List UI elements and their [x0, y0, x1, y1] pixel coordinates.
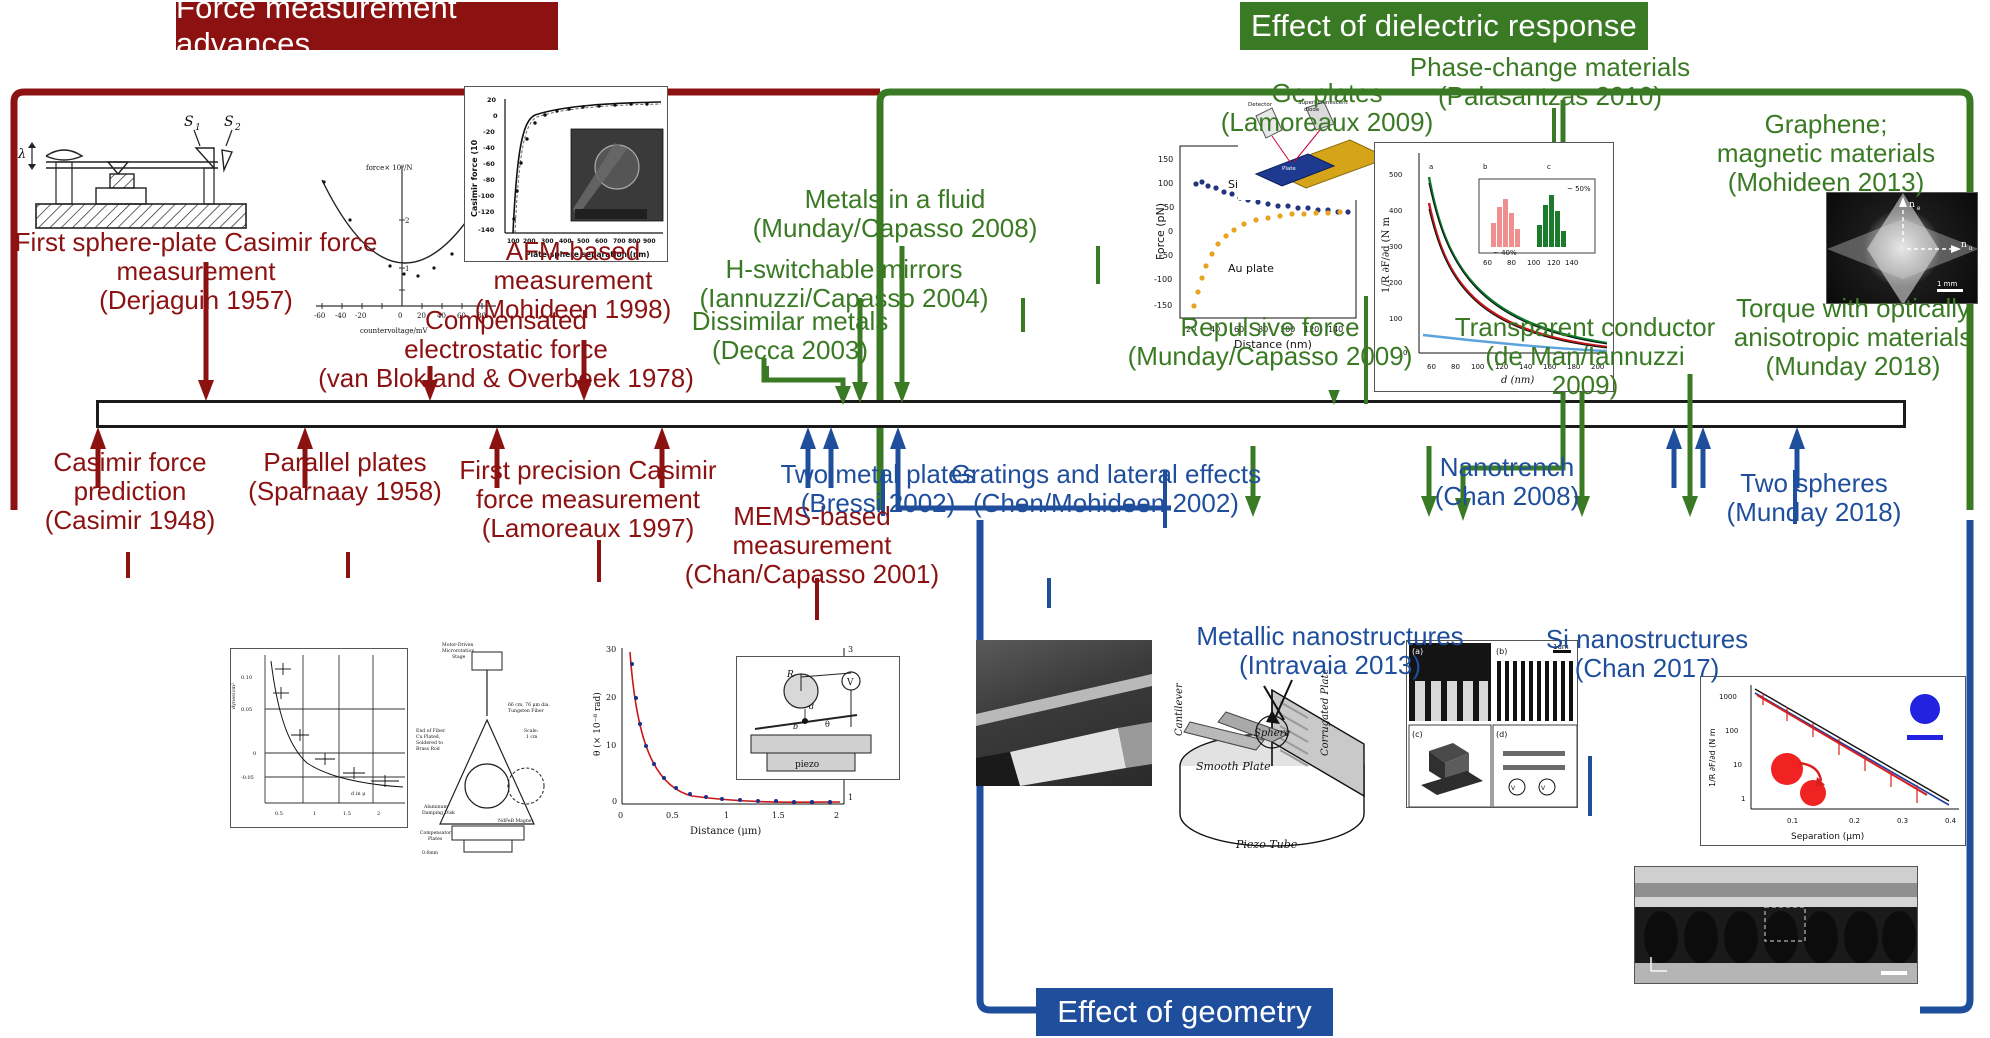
svg-text:Aluminum: Aluminum	[423, 804, 448, 810]
svg-text:0: 0	[618, 811, 623, 820]
svg-text:120: 120	[1547, 259, 1560, 267]
svg-text:66 cm, 76 μm dia.: 66 cm, 76 μm dia.	[508, 702, 550, 708]
caption-chan08: Nanotrench (Chan 2008)	[1404, 453, 1610, 511]
svg-text:1: 1	[405, 265, 409, 273]
svg-text:0.4: 0.4	[1945, 817, 1957, 825]
svg-text:-150: -150	[1154, 301, 1172, 310]
svg-text:0.3: 0.3	[1897, 817, 1908, 825]
figure-bressi02-sem	[976, 640, 1152, 786]
caption-munday18-spheres: Two spheres (Munday 2018)	[1692, 469, 1936, 527]
svg-text:a: a	[1429, 163, 1433, 171]
svg-text:500: 500	[1389, 171, 1402, 179]
svg-text:S: S	[184, 114, 194, 130]
caption-munday18-torque: Torque with optically anisotropic materi…	[1720, 294, 1986, 381]
caption-decca03: Dissimilar metals (Decca 2003)	[680, 307, 900, 365]
caption-deman09: Transparent conductor (de Man/Iannuzzi 2…	[1450, 313, 1720, 400]
svg-text:400: 400	[1389, 207, 1402, 215]
caption-munday09: Repulsive force (Munday/Capasso 2009)	[1114, 313, 1426, 371]
svg-text:3: 3	[848, 645, 853, 654]
svg-text:2: 2	[405, 217, 409, 225]
svg-text:Damping Disk: Damping Disk	[422, 810, 455, 816]
svg-text:0.5: 0.5	[275, 811, 283, 817]
svg-text:60: 60	[1427, 363, 1436, 371]
svg-text:Stage: Stage	[452, 654, 466, 660]
svg-text:Cantilever: Cantilever	[1174, 682, 1185, 736]
svg-text:-100: -100	[1154, 275, 1172, 284]
svg-text:150: 150	[1158, 155, 1173, 164]
connector-munday08-stem	[1093, 246, 1107, 286]
svg-text:80: 80	[1507, 259, 1516, 267]
svg-text:-100: -100	[478, 192, 495, 200]
svg-text:b: b	[1483, 163, 1488, 171]
svg-text:30: 30	[606, 645, 616, 654]
svg-text:d: d	[809, 702, 814, 711]
svg-text:100: 100	[1158, 179, 1173, 188]
svg-text:100: 100	[1527, 259, 1540, 267]
svg-text:dynes/cm²: dynes/cm²	[231, 683, 237, 709]
caption-palasantzas: Phase-change materials (Palasantzas 2010…	[1400, 53, 1700, 111]
svg-text:Brass Rod: Brass Rod	[416, 746, 440, 752]
svg-text:Tungsten Fiber: Tungsten Fiber	[508, 708, 545, 714]
svg-text:Motor-Driven: Motor-Driven	[442, 642, 473, 648]
connector-chen02-stem	[1044, 578, 1058, 610]
svg-text:Cu Plated,: Cu Plated,	[416, 734, 441, 740]
svg-text:10: 10	[1733, 761, 1742, 769]
svg-text:0.05: 0.05	[241, 707, 252, 713]
svg-text:θ: θ	[825, 720, 830, 729]
svg-text:Distance (μm): Distance (μm)	[690, 826, 761, 837]
svg-text:Sphere: Sphere	[1254, 728, 1290, 739]
svg-text:0.6mm: 0.6mm	[422, 850, 439, 856]
timeline-bar	[96, 400, 1906, 428]
svg-text:Compensator: Compensator	[420, 830, 452, 836]
svg-text:~ 50%: ~ 50%	[1567, 185, 1591, 193]
banner-dielectric-label: Effect of dielectric response	[1251, 8, 1637, 44]
svg-text:20: 20	[487, 96, 497, 104]
svg-text:Plate: Plate	[1282, 166, 1296, 172]
svg-text:Force (pN): Force (pN)	[1154, 203, 1167, 260]
svg-text:d in μ: d in μ	[351, 791, 366, 797]
caption-mohideen98: AFM-based measurement (Mohideen 1998)	[450, 237, 696, 324]
svg-text:Piezo Tube: Piezo Tube	[1235, 838, 1298, 851]
svg-text:-0.05: -0.05	[241, 775, 254, 781]
svg-text:-20: -20	[483, 128, 495, 136]
svg-text:2: 2	[834, 811, 839, 820]
svg-text:1: 1	[195, 123, 201, 133]
svg-text:V: V	[846, 678, 854, 688]
svg-text:piezo: piezo	[795, 760, 819, 770]
svg-text:1: 1	[1741, 795, 1745, 803]
svg-text:2: 2	[377, 811, 380, 817]
svg-text:0: 0	[253, 751, 256, 757]
figure-chan17-sem	[1634, 866, 1918, 984]
svg-text:λ: λ	[18, 147, 26, 162]
svg-text:Separation (μm): Separation (μm)	[1791, 832, 1864, 842]
svg-text:1 cm: 1 cm	[526, 734, 538, 740]
figure-lamoreaux97-apparatus: Motor-DrivenMicrorotationStage 66 cm, 76…	[416, 636, 576, 856]
svg-text:c: c	[1547, 163, 1551, 171]
svg-text:0.5: 0.5	[666, 811, 679, 820]
svg-text:1: 1	[724, 811, 729, 820]
svg-text:1/R ∂F/∂d (N m: 1/R ∂F/∂d (N m	[1708, 728, 1717, 787]
svg-text:1000: 1000	[1719, 693, 1737, 701]
svg-text:e: e	[1917, 206, 1921, 212]
caption-intravaia13: Metallic nanostructures (Intravaia 2013)	[1172, 622, 1488, 680]
svg-text:0.10: 0.10	[241, 675, 252, 681]
figure-munday18-torque-image: n e n o 1 mm	[1826, 192, 1978, 304]
svg-text:10: 10	[606, 741, 616, 750]
svg-text:0: 0	[493, 112, 498, 120]
svg-text:20: 20	[606, 693, 616, 702]
connector-casimir48-stem	[123, 552, 137, 580]
svg-text:n: n	[1961, 240, 1967, 250]
svg-text:Microrotation: Microrotation	[442, 648, 474, 654]
svg-text:(b): (b)	[1496, 647, 1507, 656]
svg-text:0.2: 0.2	[1849, 817, 1860, 825]
svg-text:1.5: 1.5	[343, 811, 351, 817]
svg-text:NdFeB Magnet: NdFeB Magnet	[498, 818, 534, 824]
svg-text:Corrugated Plate: Corrugated Plate	[1320, 669, 1331, 756]
svg-text:-40: -40	[483, 144, 495, 152]
svg-text:force× 10⁹/N: force× 10⁹/N	[366, 164, 413, 172]
svg-text:n: n	[1909, 200, 1915, 210]
svg-text:1 mm: 1 mm	[1937, 280, 1957, 288]
svg-text:End of Fiber: End of Fiber	[416, 728, 446, 734]
figure-chan01-schematic: R V b d θ piezo	[736, 656, 900, 780]
svg-text:1: 1	[313, 811, 316, 817]
svg-text:-80: -80	[483, 176, 495, 184]
caption-chen02: Gratings and lateral effects (Chen/Mohid…	[924, 460, 1288, 518]
svg-text:θ (× 10⁻⁸ rad): θ (× 10⁻⁸ rad)	[592, 692, 603, 756]
svg-text:Plates: Plates	[428, 836, 443, 842]
figure-sparnaay-plot: 0.100.050 -0.05 0.511.5 2 d in μ dynes/c…	[230, 648, 408, 828]
pointer-intravaia13	[1665, 426, 1683, 488]
connector-intravaia-stem	[1585, 756, 1599, 818]
svg-text:Scale:: Scale:	[524, 728, 539, 734]
connector-iannuzzi-stem	[1018, 298, 1032, 334]
connector-sparnaay-stem	[343, 552, 357, 580]
svg-text:Au plate: Au plate	[1228, 262, 1274, 275]
svg-text:1.5: 1.5	[772, 811, 785, 820]
figure-derjaguin-apparatus: S 1 S 2 λ	[18, 112, 266, 232]
svg-text:b: b	[793, 722, 798, 731]
svg-text:Soldered to: Soldered to	[416, 740, 443, 746]
svg-text:-140: -140	[478, 226, 495, 234]
svg-text:0.1: 0.1	[1787, 817, 1798, 825]
figure-mohideen98-ylabel	[458, 108, 474, 258]
svg-text:140: 140	[1565, 259, 1578, 267]
svg-text:60: 60	[1483, 259, 1492, 267]
svg-text:(c): (c)	[1412, 730, 1423, 739]
svg-text:(d): (d)	[1496, 730, 1507, 739]
connector-decca-stem	[762, 366, 776, 382]
svg-text:0: 0	[612, 797, 617, 806]
svg-text:~ 40%: ~ 40%	[1493, 249, 1517, 257]
caption-derjaguin: First sphere-plate Casimir force measure…	[0, 228, 392, 315]
svg-text:1/R ∂F/∂d (N m: 1/R ∂F/∂d (N m	[1381, 217, 1392, 293]
svg-text:-120: -120	[478, 208, 495, 216]
svg-text:2: 2	[234, 123, 241, 133]
svg-text:100: 100	[1725, 727, 1738, 735]
caption-chan17: Si nanostructures (Chan 2017)	[1514, 625, 1780, 683]
svg-text:-60: -60	[483, 160, 495, 168]
svg-text:R: R	[786, 670, 794, 680]
caption-munday08: Metals in a fluid (Munday/Capasso 2008)	[700, 185, 1090, 243]
caption-iannuzzi04: H-switchable mirrors (Iannuzzi/Capasso 2…	[668, 255, 1020, 313]
figure-munday18-spheres-plot: 100010010 1 0.10.20.3 0.4 Separation (μm…	[1700, 676, 1966, 846]
svg-text:0: 0	[1168, 227, 1173, 236]
svg-text:S: S	[224, 114, 234, 130]
svg-text:1: 1	[848, 793, 853, 802]
svg-text:Smooth Plate: Smooth Plate	[1196, 760, 1271, 773]
caption-mohideen13: Graphene; magnetic materials (Mohideen 2…	[1686, 110, 1966, 197]
